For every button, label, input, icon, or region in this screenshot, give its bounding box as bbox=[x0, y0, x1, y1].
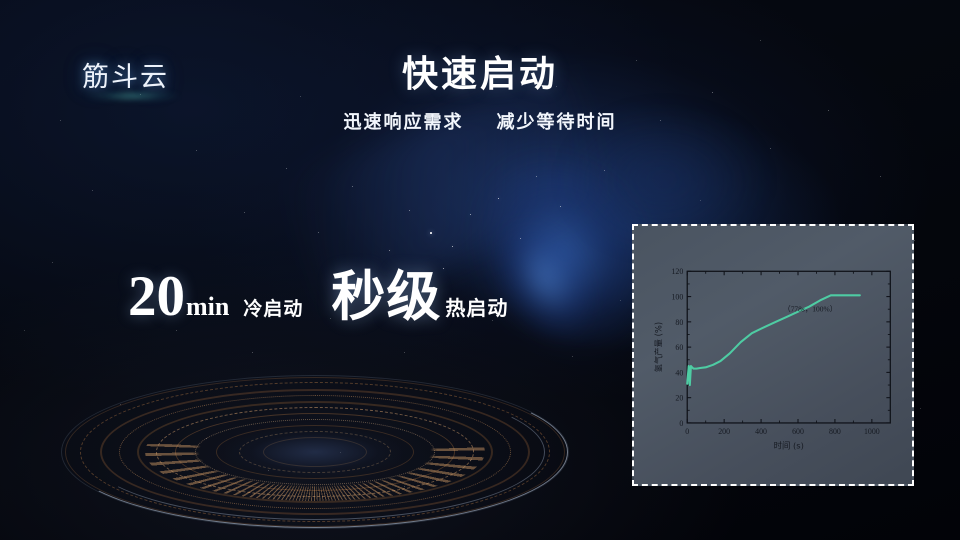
cold-start-label: 冷启动 bbox=[243, 294, 303, 321]
svg-text:800: 800 bbox=[829, 427, 841, 436]
svg-text:600: 600 bbox=[792, 427, 804, 436]
svg-text:200: 200 bbox=[718, 427, 730, 436]
svg-text:20: 20 bbox=[675, 394, 683, 403]
svg-text:氢气产量 (%): 氢气产量 (%) bbox=[654, 322, 664, 373]
svg-text:0: 0 bbox=[679, 419, 683, 428]
svg-text:1000: 1000 bbox=[864, 427, 880, 436]
svg-text:400: 400 bbox=[755, 427, 767, 436]
metrics-row: 20 min 冷启动 秒级 热启动 bbox=[128, 268, 508, 325]
hydrogen-yield-chart: 02004006008001000020406080100120时间 (s)氢气… bbox=[634, 226, 912, 484]
page-title: 快速启动 bbox=[0, 45, 960, 97]
cold-start-value: 20 bbox=[128, 268, 185, 325]
svg-text:时间 (s): 时间 (s) bbox=[774, 441, 804, 451]
cold-start-unit: min bbox=[186, 292, 229, 322]
presentation-slide: 筋斗云 快速启动 迅速响应需求 减少等待时间 20 min 冷启动 秒级 热启动… bbox=[0, 0, 960, 540]
hud-rings-decoration bbox=[55, 372, 575, 532]
chart-panel[interactable]: 02004006008001000020406080100120时间 (s)氢气… bbox=[632, 224, 914, 486]
svg-text:100: 100 bbox=[671, 293, 683, 302]
svg-text:（778s，100%）: （778s，100%） bbox=[783, 305, 837, 314]
page-subtitle: 迅速响应需求 减少等待时间 bbox=[0, 108, 960, 134]
svg-text:40: 40 bbox=[675, 368, 683, 377]
warm-start-value: 秒级 bbox=[331, 270, 441, 324]
warm-start-label: 热启动 bbox=[445, 292, 508, 321]
svg-text:60: 60 bbox=[675, 343, 683, 352]
svg-text:0: 0 bbox=[685, 427, 689, 436]
svg-text:120: 120 bbox=[671, 267, 683, 276]
svg-text:80: 80 bbox=[675, 318, 683, 327]
